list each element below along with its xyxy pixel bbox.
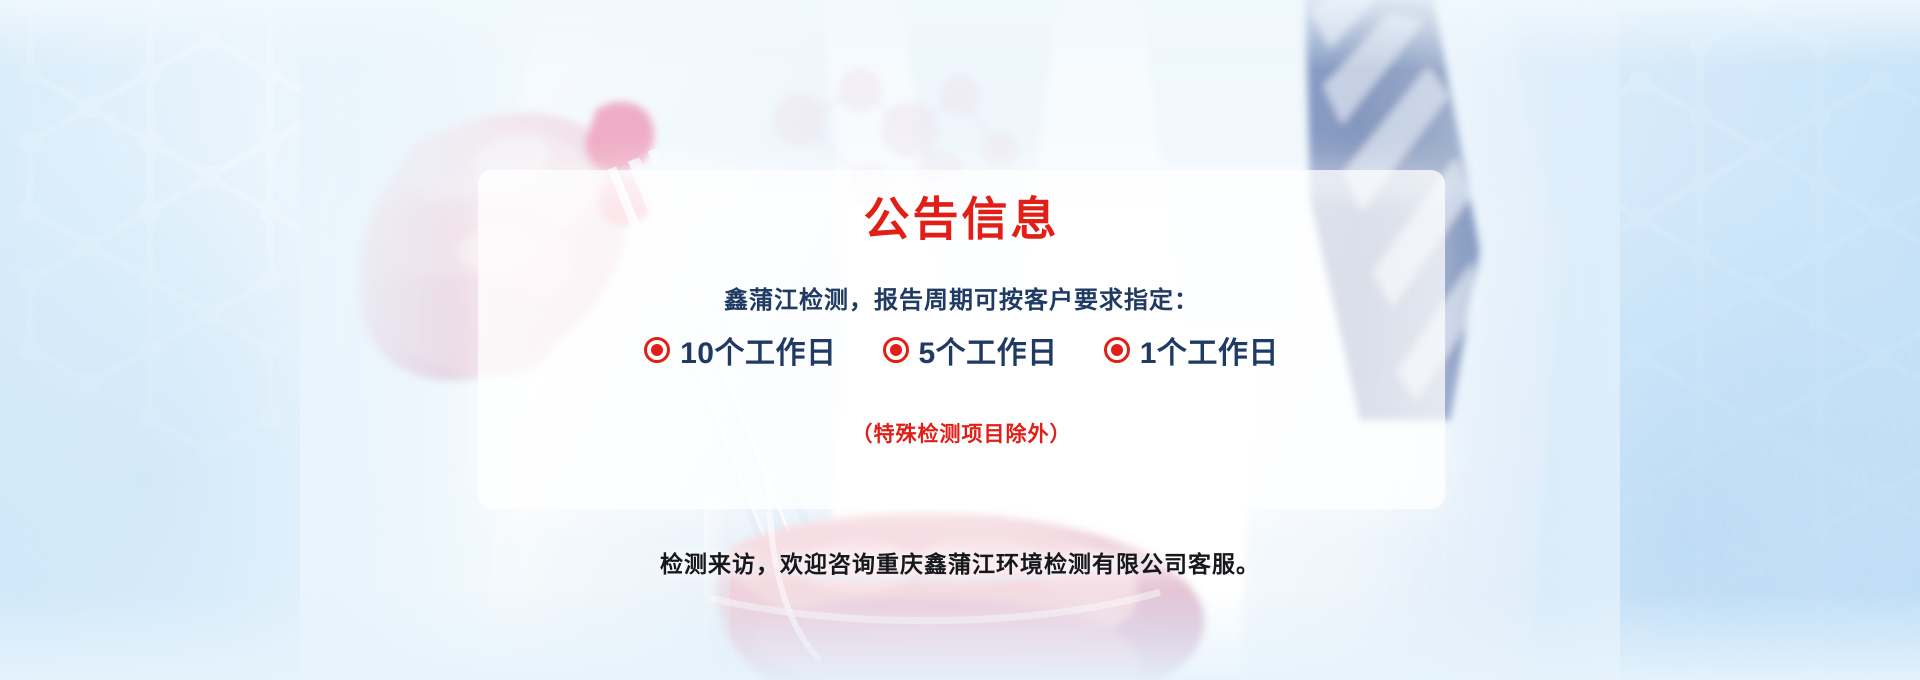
turnaround-option-label: 1个工作日 [1140, 328, 1279, 372]
turnaround-options: 10个工作日 5个工作日 1个工作日 [478, 328, 1445, 372]
announcement-card: 公告信息 鑫蒲江检测，报告周期可按客户要求指定： 10个工作日 5个工作日 1个… [478, 170, 1445, 509]
announcement-subtitle: 鑫蒲江检测，报告周期可按客户要求指定： [478, 280, 1445, 315]
turnaround-option-label: 5个工作日 [919, 328, 1058, 372]
turnaround-option-10-days[interactable]: 10个工作日 [644, 328, 836, 372]
turnaround-option-1-day[interactable]: 1个工作日 [1104, 328, 1279, 372]
page-title: 公告信息 [478, 194, 1445, 245]
contact-footnote: 检测来访，欢迎咨询重庆鑫蒲江环境检测有限公司客服。 [0, 545, 1920, 579]
turnaround-option-label: 10个工作日 [680, 328, 836, 372]
radio-selected-icon [883, 337, 909, 363]
turnaround-option-5-days[interactable]: 5个工作日 [883, 328, 1058, 372]
announcement-card-inner: 公告信息 鑫蒲江检测，报告周期可按客户要求指定： 10个工作日 5个工作日 1个… [478, 170, 1445, 509]
photo-fade-top [0, 0, 1920, 70]
exclusion-note: （特殊检测项目除外） [478, 418, 1445, 448]
announcement-banner: 公告信息 鑫蒲江检测，报告周期可按客户要求指定： 10个工作日 5个工作日 1个… [0, 0, 1920, 680]
radio-selected-icon [1104, 337, 1130, 363]
photo-fade-bottom [0, 590, 1920, 680]
radio-selected-icon [644, 337, 670, 363]
